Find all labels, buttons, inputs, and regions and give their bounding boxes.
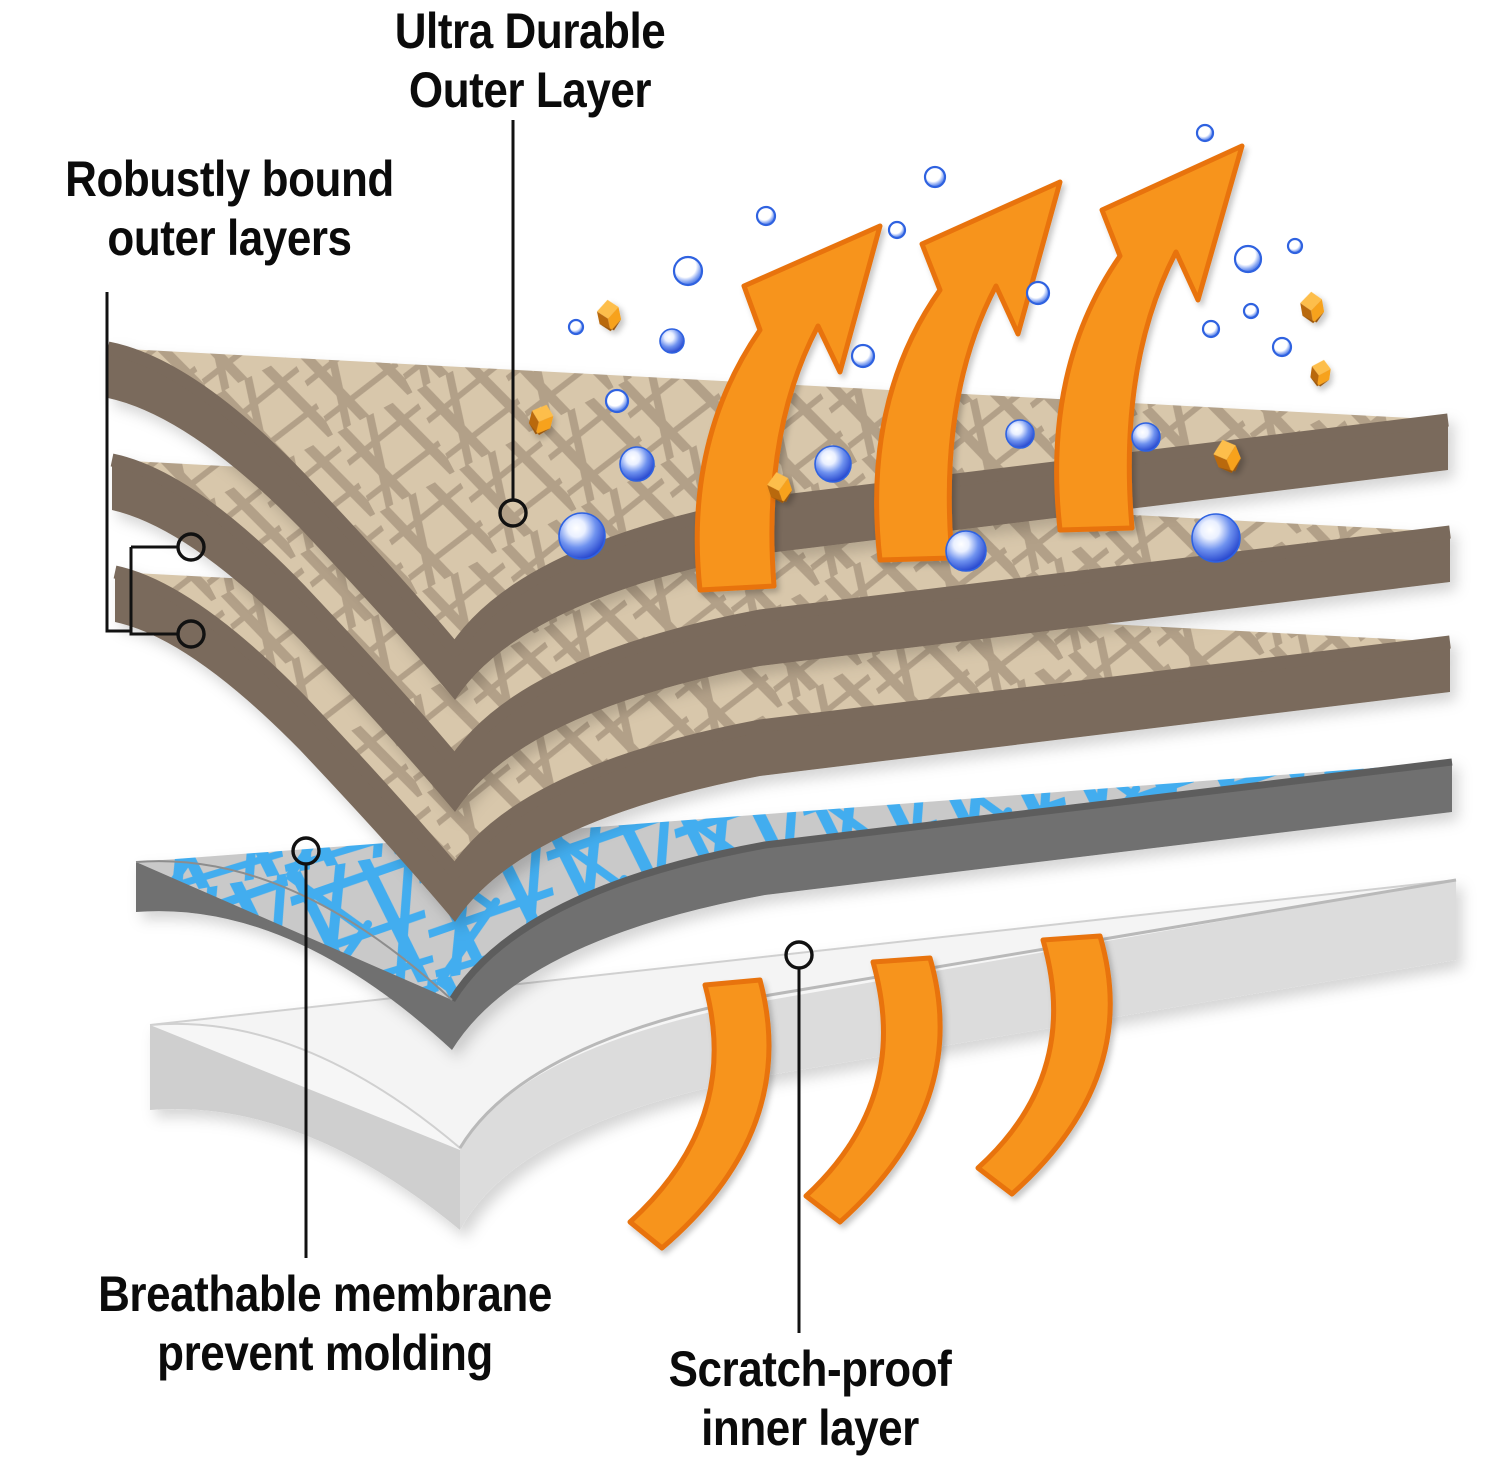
moisture-bubble	[852, 345, 874, 367]
moisture-bubble	[1273, 338, 1291, 356]
moisture-bubble	[559, 513, 605, 559]
moisture-bubble	[660, 329, 684, 353]
scratch-proof-inner-layer-label: Scratch-proof inner layer	[625, 1340, 995, 1458]
moisture-bubble	[1006, 420, 1034, 448]
moisture-bubble	[1027, 282, 1049, 304]
breathable-membrane-label: Breathable membrane prevent molding	[39, 1265, 611, 1383]
moisture-bubble	[620, 447, 654, 481]
ultra-durable-outer-layer-label: Ultra Durable Outer Layer	[354, 2, 706, 120]
moisture-bubble	[889, 222, 905, 238]
moisture-bubble	[1197, 125, 1213, 141]
moisture-bubble	[674, 257, 702, 285]
moisture-bubble	[1132, 423, 1160, 451]
dirt-particle-cube	[1309, 358, 1332, 387]
moisture-bubble	[757, 207, 775, 225]
moisture-bubble	[1244, 304, 1258, 318]
moisture-bubble	[606, 390, 628, 412]
moisture-bubble	[1288, 239, 1302, 253]
moisture-bubble	[569, 320, 583, 334]
dirt-particle-cube	[595, 298, 623, 333]
moisture-bubble	[815, 446, 851, 482]
dirt-particle-cube	[1299, 290, 1326, 325]
moisture-bubble	[1192, 514, 1240, 562]
moisture-bubble	[946, 531, 986, 571]
moisture-bubble	[925, 167, 945, 187]
moisture-bubble	[1203, 321, 1219, 337]
diagram-canvas: Ultra Durable Outer Layer Robustly bound…	[0, 0, 1500, 1475]
robustly-bound-outer-layers-label: Robustly bound outer layers	[29, 150, 429, 268]
moisture-bubble	[1235, 246, 1261, 272]
